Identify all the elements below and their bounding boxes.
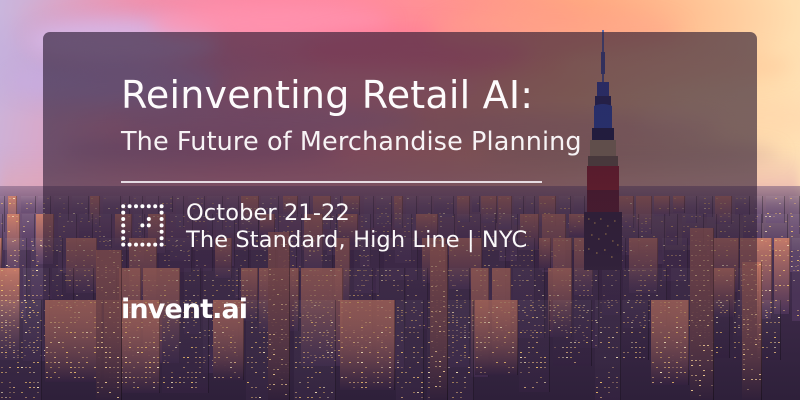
event-details-row: October 21-22 The Standard, High Line | … [119,200,527,253]
event-date: October 21-22 [186,200,527,227]
company-logo: invent.ai [121,296,247,323]
event-venue: The Standard, High Line | NYC [186,227,527,254]
dotted-square-bracket-icon [119,202,169,252]
event-promo-banner: Reinventing Retail AI: The Future of Mer… [0,0,800,400]
banner-title: Reinventing Retail AI: [121,76,533,114]
banner-subtitle: The Future of Merchandise Planning [121,130,582,156]
title-divider [121,181,542,183]
banner-content: Reinventing Retail AI: The Future of Mer… [0,0,800,400]
event-text-block: October 21-22 The Standard, High Line | … [186,200,527,253]
